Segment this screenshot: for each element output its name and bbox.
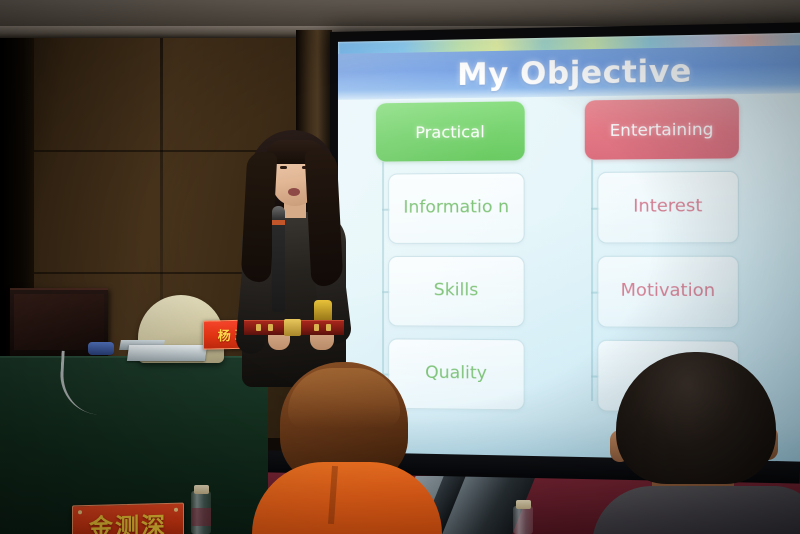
audience-orange-jacket bbox=[252, 462, 442, 534]
microphone-band bbox=[272, 220, 285, 225]
chart-item-skills: Skills bbox=[388, 256, 525, 327]
wall-panel-split bbox=[160, 38, 163, 338]
bottle-cap bbox=[194, 485, 209, 494]
chart-item-information: Informatio n bbox=[388, 172, 525, 243]
belt-stud bbox=[256, 324, 261, 331]
belt-stud bbox=[268, 324, 273, 331]
chart-head-practical: Practical bbox=[376, 101, 525, 161]
audience-gray-shirt bbox=[592, 486, 800, 534]
audience-hair-highlight bbox=[288, 368, 400, 428]
chart-item-motivation: Motivation bbox=[597, 256, 739, 329]
slide-title: My Objective bbox=[338, 45, 800, 100]
papers bbox=[127, 345, 207, 361]
audience-hair bbox=[616, 352, 776, 484]
audience-member-orange-jacket bbox=[252, 362, 432, 534]
photograph-scene: My Objective Practical Informatio n Skil… bbox=[0, 0, 800, 534]
audience-member-gray-shirt bbox=[596, 352, 800, 534]
presenter-belt-buckle bbox=[284, 319, 301, 336]
presenter-eye bbox=[280, 166, 287, 169]
chart-head-entertaining: Entertaining bbox=[585, 98, 739, 159]
belt-stud bbox=[314, 324, 319, 331]
water-bottle bbox=[513, 506, 533, 534]
nameplate-front-table: 金测深 bbox=[72, 503, 184, 534]
belt-stud bbox=[326, 324, 331, 331]
bottle-cap bbox=[516, 500, 531, 509]
connector-line-vertical bbox=[591, 160, 593, 401]
bottle-label bbox=[191, 508, 211, 526]
chart-item-interest: Interest bbox=[597, 171, 739, 244]
presenter-mouth bbox=[288, 188, 300, 196]
presenter-hair-right bbox=[304, 149, 343, 286]
